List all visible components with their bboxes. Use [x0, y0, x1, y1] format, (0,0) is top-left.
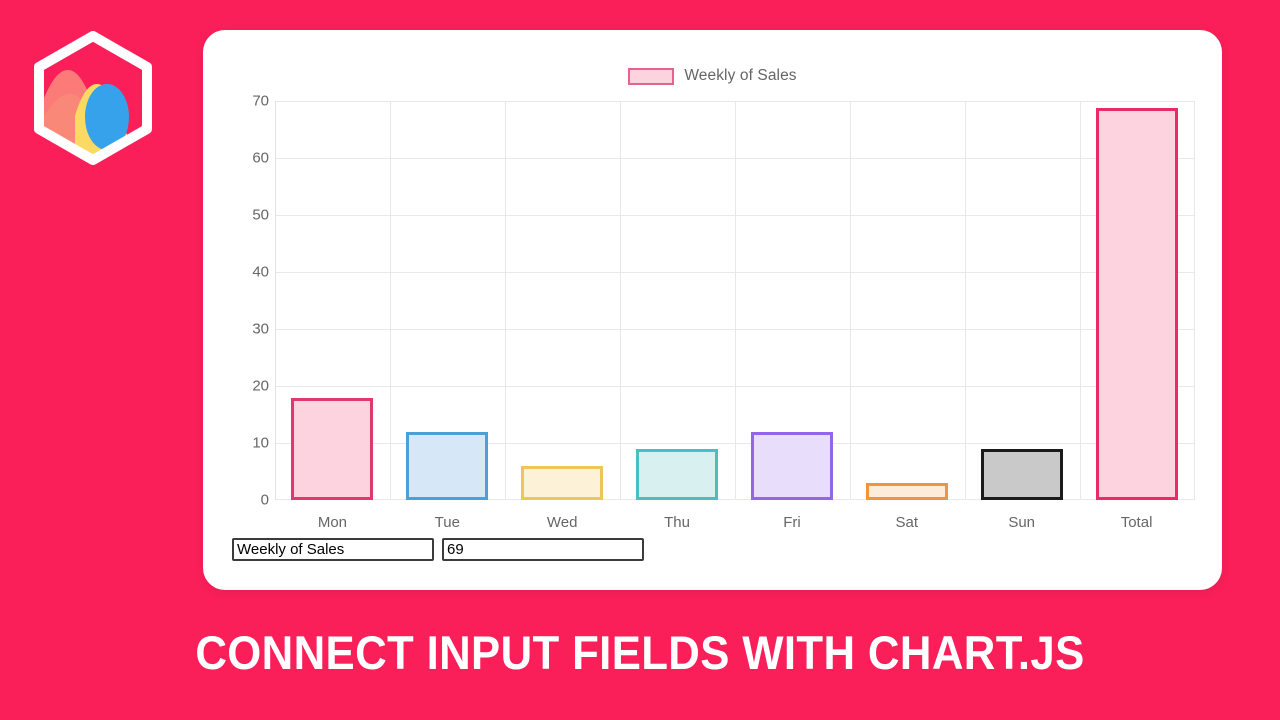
y-tick-50: 50 [252, 207, 269, 224]
chart-card: Weekly of Sales 70 60 50 40 30 20 10 0 [203, 30, 1222, 590]
bar-sat[interactable] [866, 483, 948, 500]
bar-thu[interactable] [636, 449, 718, 500]
chart-bars [275, 101, 1194, 500]
x-tick-sun: Sun [1008, 514, 1035, 531]
total-value-input[interactable] [442, 538, 644, 561]
chart-plot-area: 70 60 50 40 30 20 10 0 [203, 101, 1222, 571]
y-tick-0: 0 [261, 492, 269, 509]
y-tick-10: 10 [252, 435, 269, 452]
bar-fri[interactable] [751, 432, 833, 500]
chartjs-logo [18, 20, 168, 168]
bar-tue[interactable] [406, 432, 488, 500]
y-tick-20: 20 [252, 378, 269, 395]
chart-legend[interactable]: Weekly of Sales [203, 67, 1222, 85]
x-tick-thu: Thu [664, 514, 690, 531]
y-axis: 70 60 50 40 30 20 10 0 [225, 101, 269, 500]
y-tick-60: 60 [252, 150, 269, 167]
y-tick-40: 40 [252, 264, 269, 281]
x-tick-mon: Mon [318, 514, 347, 531]
x-tick-tue: Tue [435, 514, 460, 531]
bar-wed[interactable] [521, 466, 603, 500]
legend-label-weekly-of-sales[interactable]: Weekly of Sales [684, 67, 796, 85]
x-tick-total: Total [1121, 514, 1153, 531]
video-caption: CONNECT INPUT FIELDS WITH CHART.JS [45, 625, 1235, 680]
dataset-label-input[interactable] [232, 538, 434, 561]
bar-mon[interactable] [291, 398, 373, 500]
legend-swatch-weekly-of-sales [628, 68, 674, 85]
y-tick-70: 70 [252, 93, 269, 110]
bar-sun[interactable] [981, 449, 1063, 500]
x-tick-fri: Fri [783, 514, 801, 531]
x-tick-wed: Wed [547, 514, 578, 531]
x-tick-sat: Sat [896, 514, 919, 531]
y-tick-30: 30 [252, 321, 269, 338]
chart-input-controls [232, 538, 644, 561]
bar-total[interactable] [1096, 108, 1178, 500]
